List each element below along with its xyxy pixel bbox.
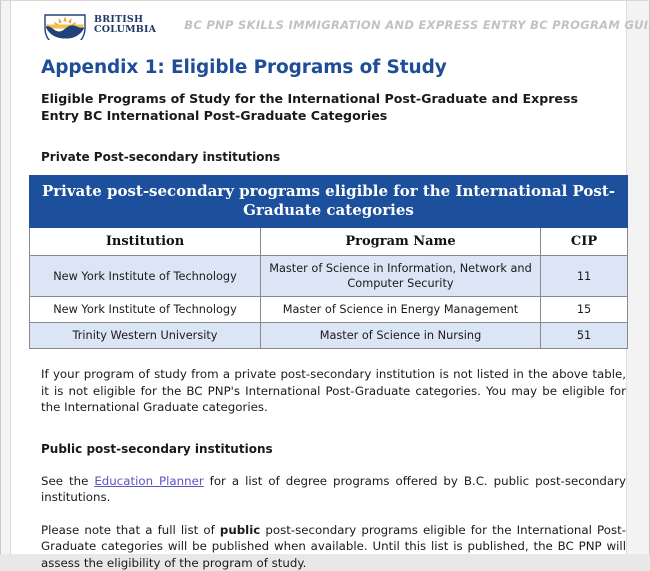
- table-banner-title: Private post-secondary programs eligible…: [30, 176, 628, 228]
- paragraph-private-note: If your program of study from a private …: [41, 366, 626, 416]
- document-running-header: BRITISH COLUMBIA BC PNP SKILLS IMMIGRATI…: [29, 1, 623, 45]
- table-header-row: Institution Program Name CIP: [30, 228, 628, 256]
- cell-program: Master of Science in Nursing: [261, 323, 541, 349]
- logo-wordmark: BRITISH COLUMBIA: [94, 15, 156, 36]
- column-header-program-name: Program Name: [261, 228, 541, 256]
- logo-wordmark-line2: COLUMBIA: [94, 25, 156, 36]
- cell-institution: New York Institute of Technology: [30, 297, 261, 323]
- page-subtitle: Eligible Programs of Study for the Inter…: [41, 90, 616, 124]
- cell-institution: Trinity Western University: [30, 323, 261, 349]
- paragraph-education-planner: See the Education Planner for a list of …: [41, 473, 626, 506]
- section-heading-public: Public post-secondary institutions: [41, 442, 623, 456]
- table-banner-row: Private post-secondary programs eligible…: [30, 176, 628, 228]
- table-row: New York Institute of Technology Master …: [30, 297, 628, 323]
- education-planner-link[interactable]: Education Planner: [94, 474, 203, 488]
- cell-cip: 51: [541, 323, 628, 349]
- document-page: BRITISH COLUMBIA BC PNP SKILLS IMMIGRATI…: [0, 0, 650, 554]
- running-header-title: BC PNP SKILLS IMMIGRATION AND EXPRESS EN…: [184, 18, 650, 32]
- column-header-institution: Institution: [30, 228, 261, 256]
- paragraph-public-note: Please note that a full list of public p…: [41, 522, 626, 571]
- public-note-part1: Please note that a full list of: [41, 523, 220, 537]
- table-row: Trinity Western University Master of Sci…: [30, 323, 628, 349]
- cell-program: Master of Science in Energy Management: [261, 297, 541, 323]
- eligible-programs-table: Private post-secondary programs eligible…: [29, 175, 628, 349]
- public-note-emphasis: public: [220, 523, 260, 537]
- cell-program: Master of Science in Information, Networ…: [261, 256, 541, 297]
- cell-cip: 11: [541, 256, 628, 297]
- table-row: New York Institute of Technology Master …: [30, 256, 628, 297]
- link-lead-text: See the: [41, 474, 94, 488]
- british-columbia-logo-icon: [43, 11, 87, 40]
- page-title: Appendix 1: Eligible Programs of Study: [41, 57, 623, 78]
- section-heading-private: Private Post-secondary institutions: [41, 150, 623, 164]
- page-content: BRITISH COLUMBIA BC PNP SKILLS IMMIGRATI…: [1, 1, 649, 571]
- cell-cip: 15: [541, 297, 628, 323]
- column-header-cip: CIP: [541, 228, 628, 256]
- cell-institution: New York Institute of Technology: [30, 256, 261, 297]
